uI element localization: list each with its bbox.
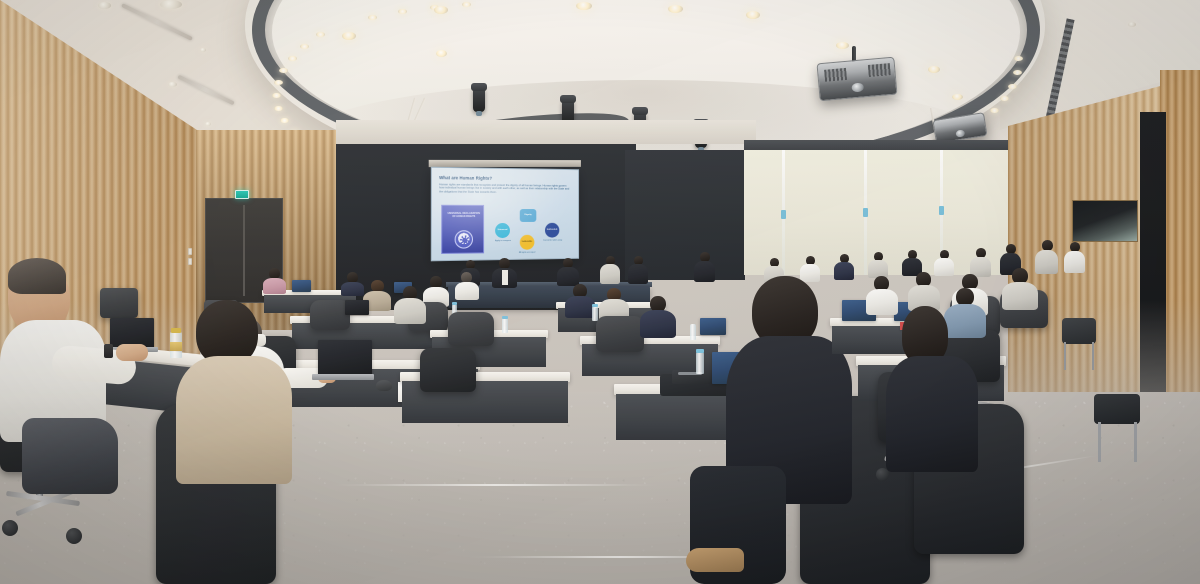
attendee-body [176,356,292,484]
chair-leg [1092,342,1094,370]
track-spotlight [473,88,485,112]
diagram-node-label: Dignity [524,214,531,217]
bottle-cap [696,349,704,353]
diagram-node-inalienable: Inalienable [545,223,559,238]
ceiling-downlight [200,48,206,52]
laptop[interactable] [318,340,372,375]
diagram-node-label: Indivisible [522,241,532,244]
attendee-body [640,310,676,338]
rim-light [316,32,325,37]
rim-light [274,80,283,85]
rim-light [368,15,377,20]
udhr-document-label: UNIVERSAL DECLARATION OF HUMAN RIGHTS [446,212,481,218]
rim-light [990,108,999,113]
chair-caster [66,528,82,544]
ceiling-downlight [205,122,211,126]
light-switch-plate[interactable] [188,248,192,255]
lecture-hall-photo: What are Human Rights? Human rights are … [0,0,1200,584]
attendee-body [934,258,954,276]
front-wall-upper [336,120,756,144]
water-bottle[interactable] [592,306,598,321]
attendee-body [565,296,595,318]
window-blind-tab [863,208,868,217]
projector-lens [851,82,864,92]
exit-sign-icon [235,190,249,199]
office-chair[interactable] [310,300,350,330]
un-emblem-icon [455,230,473,248]
rim-light [280,118,289,123]
laptop[interactable] [292,280,311,292]
rim-light [1014,56,1023,61]
projection-screen-mount [429,160,581,167]
attendee-body [944,304,986,338]
ceiling-projector [816,57,897,102]
window-blind-tab [781,210,786,219]
spare-chair[interactable] [1094,394,1140,424]
udhr-document-image: UNIVERSAL DECLARATION OF HUMAN RIGHTS [441,205,484,254]
slide-paragraph: Human rights are standards that recogniz… [439,183,570,194]
attendee-body [600,264,620,284]
attendee-body [834,262,854,280]
laptop[interactable] [345,300,369,315]
foreground-man-trousers [22,418,118,494]
attendee-body [263,278,286,294]
attendee-body [694,261,715,282]
attendee-body [557,267,579,286]
ceiling-downlight [928,66,940,73]
rim-light [1008,84,1017,89]
presenter-shirt-front [502,270,508,285]
diagram-node-indivisible: Indivisible [520,235,535,250]
diagram-node-label: Inalienable [547,229,558,232]
bottle-cap [171,328,181,333]
projector-lens [955,129,965,137]
door-split-line [243,205,245,296]
diagram-caption: All rights are equal [511,251,543,254]
attendee-body [455,282,479,300]
light-switch-plate[interactable] [188,258,192,265]
rim-light [1000,96,1009,101]
attendee-body [800,264,820,282]
chair-leg [1064,342,1066,370]
attendee-body [866,289,898,315]
water-bottle[interactable] [696,352,704,374]
diagram-caption: Cannot be taken away [539,239,566,242]
spare-chair[interactable] [100,288,138,318]
ceiling-downlight [436,50,447,57]
bottle-cap [452,302,457,305]
window-blind-tab [939,206,944,215]
bottle-cap [592,304,598,307]
chair-leg [1098,422,1101,462]
ceiling-downlight [836,42,849,49]
office-chair[interactable] [596,316,644,352]
foreground-man-hand [116,344,148,361]
ceiling-downlight [952,94,963,100]
ceiling-downlight [342,32,356,40]
rim-light [279,68,288,73]
rim-light [288,56,297,61]
control-room-window [1072,200,1138,242]
attendee-body [394,298,426,324]
ceiling-downlight [668,5,683,13]
attendee-body [341,282,364,296]
rim-light [1013,70,1022,75]
ceiling-downlight [98,2,111,9]
rim-light [300,44,309,49]
slide-title: What are Human Rights? [439,175,492,181]
diagram-caption: Apply to everyone [489,240,517,243]
diagram-node-universal: Universal [495,223,510,238]
chair-caster [2,520,18,536]
rim-light [462,2,471,7]
ceiling-downlight [160,0,182,9]
ceiling-downlight [576,2,592,10]
attendee-body [628,264,648,284]
attendee-body [1064,251,1085,273]
water-bottle[interactable] [690,324,696,340]
ceiling-downlight [1128,22,1136,27]
wristwatch-icon [104,344,113,358]
ceiling-downlight [434,6,448,14]
water-bottle[interactable] [502,318,508,333]
chair-leg [1134,422,1137,462]
foreground-man-hair [8,258,66,294]
attendee-body [868,260,888,278]
projection-screen: What are Human Rights? Human rights are … [431,167,579,262]
diagram-node-label: Universal [498,229,508,232]
diagram-node-dignity: Dignity [520,209,537,222]
laptop-keyboard[interactable] [312,374,374,380]
bottle-cap [502,316,508,319]
attendee-body [1035,250,1058,274]
office-chair[interactable] [420,348,476,392]
front-wall-dark-right [625,150,745,280]
rim-light [398,9,407,14]
bottle-label [170,342,182,351]
floor-seam [330,484,660,486]
rim-light [272,93,281,98]
shoe-icon [686,548,744,572]
ceiling-downlight [746,11,760,19]
mouse-icon[interactable] [376,380,392,391]
projector-vent [824,68,847,82]
office-chair[interactable] [448,312,494,346]
ceiling-downlight [168,82,177,87]
rim-light [274,106,283,111]
attendee-body [886,356,978,472]
spare-chair[interactable] [1062,318,1096,344]
laptop[interactable] [700,318,726,335]
projector-vent [868,63,891,77]
attendee-body [1002,282,1038,310]
